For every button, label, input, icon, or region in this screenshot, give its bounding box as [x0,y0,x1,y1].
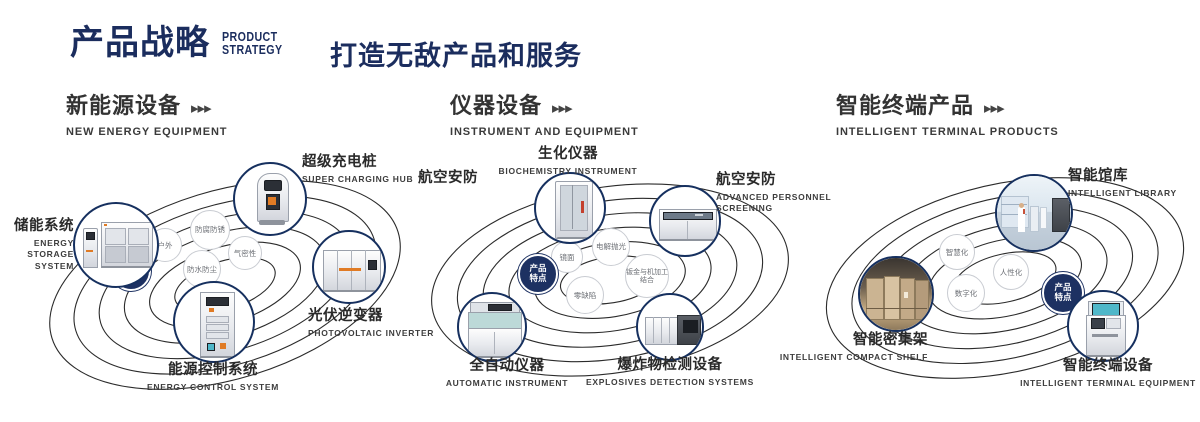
node-advanced-personnel-screening[interactable] [649,185,721,257]
caption-energy-storage-system: 储能系统 ENERGY STORAGE SYSTEM [0,218,74,272]
caption-cn: 航空安防 [392,170,478,187]
cluster-new-energy: 户外 防腐防锈 防水防尘 气密性 产品 特点 [40,150,410,390]
feature-bubble: 数字化 [947,274,985,312]
section-title-en: INTELLIGENT TERMINAL PRODUCTS [836,126,1059,138]
page-title-en: PRODUCT STRATEGY [222,30,283,56]
caption-intelligent-compact-shelf: 智能密集架 INTELLIGENT COMPACT SHELF [768,332,928,363]
node-biochemistry-instrument[interactable] [534,172,606,244]
feature-bubble: 人性化 [993,254,1029,290]
caption-energy-control-system: 能源控制系统 ENERGY CONTROL SYSTEM [88,362,338,393]
node-energy-control-system[interactable] [173,281,255,363]
page-title-en-line2: STRATEGY [222,43,283,56]
caption-cn: 超级充电桩 [302,154,432,171]
core-badge-product-features: 产品 特点 [518,254,558,294]
caption-en: AUTOMATIC INSTRUMENT [417,378,597,389]
caption-explosives-detection-systems: 爆炸物检测设备 EXPLOSIVES DETECTION SYSTEMS [580,357,760,388]
node-automatic-instrument[interactable] [457,292,527,362]
section-header-new-energy: 新能源设备 ▸▸▸ NEW ENERGY EQUIPMENT [66,96,227,138]
section-header-instrument: 仪器设备 ▸▸▸ INSTRUMENT AND EQUIPMENT [450,96,639,138]
core-badge-line2: 特点 [529,274,546,284]
cluster-intelligent-terminal: 智慧化 数字化 人性化 产品 特点 智能馆 [810,150,1200,390]
caption-cn: 智能终端设备 [1008,358,1200,375]
node-intelligent-library[interactable] [995,174,1073,252]
section-header-intelligent-terminal: 智能终端产品 ▸▸▸ INTELLIGENT TERMINAL PRODUCTS [836,96,1059,138]
node-photovoltaic-inverter[interactable] [312,230,386,304]
page-subtitle: 打造无敌产品和服务 [330,34,582,73]
page-title-cn: 产品战略 [70,26,210,60]
caption-en: ENERGY CONTROL SYSTEM [88,382,338,393]
caption-cn: 储能系统 [0,218,74,235]
node-super-charging-hub[interactable] [233,162,307,236]
chevron-right-icon: ▸▸▸ [552,101,572,118]
caption-cn: 全自动仪器 [417,358,597,375]
caption-en: INTELLIGENT LIBRARY [1068,188,1200,199]
section-title-cn: 仪器设备 [450,96,542,118]
caption-aviation-security: 航空安防 [392,170,478,187]
caption-biochemistry-instrument: 生化仪器 BIOCHEMISTRY INSTRUMENT [498,146,638,177]
caption-en: ENERGY STORAGE SYSTEM [0,238,74,272]
caption-en: BIOCHEMISTRY INSTRUMENT [498,166,638,177]
node-intelligent-compact-shelf[interactable] [858,256,934,332]
chevron-right-icon: ▸▸▸ [984,101,1004,118]
caption-cn: 智能密集架 [768,332,928,349]
caption-en: INTELLIGENT TERMINAL EQUIPMENT [1008,378,1200,389]
caption-intelligent-library: 智能馆库 INTELLIGENT LIBRARY [1068,168,1200,199]
core-badge-line1: 产品 [529,264,546,274]
node-intelligent-terminal-equipment[interactable] [1067,290,1139,362]
caption-en: EXPLOSIVES DETECTION SYSTEMS [580,377,760,388]
feature-bubble: 防腐防锈 [190,210,230,250]
caption-en: INTELLIGENT COMPACT SHELF [768,352,928,363]
caption-cn: 能源控制系统 [88,362,338,379]
section-title-cn: 新能源设备 [66,96,181,118]
feature-bubble: 零缺陷 [566,276,604,314]
caption-cn: 生化仪器 [498,146,638,163]
caption-cn: 智能馆库 [1068,168,1200,185]
feature-bubble: 智慧化 [939,234,975,270]
feature-bubble: 钣金与机加工结合 [625,254,669,298]
caption-cn: 爆炸物检测设备 [580,357,760,374]
section-title-en: INSTRUMENT AND EQUIPMENT [450,126,639,138]
feature-bubble: 气密性 [228,236,262,270]
product-strategy-infographic: 产品战略 PRODUCT STRATEGY 打造无敌产品和服务 新能源设备 ▸▸… [0,0,1200,422]
node-explosives-detection-systems[interactable] [636,293,704,361]
cluster-instrument: 镜面 电解抛光 钣金与机加工结合 零缺陷 产品 特点 航空安防 [420,150,800,390]
section-title-en: NEW ENERGY EQUIPMENT [66,126,227,138]
caption-automatic-instrument: 全自动仪器 AUTOMATIC INSTRUMENT [417,358,597,389]
page-title: 产品战略 PRODUCT STRATEGY [70,26,296,60]
node-energy-storage-system[interactable] [73,202,159,288]
caption-intelligent-terminal-equipment: 智能终端设备 INTELLIGENT TERMINAL EQUIPMENT [1008,358,1200,389]
chevron-right-icon: ▸▸▸ [191,101,211,118]
section-title-cn: 智能终端产品 [836,96,974,118]
